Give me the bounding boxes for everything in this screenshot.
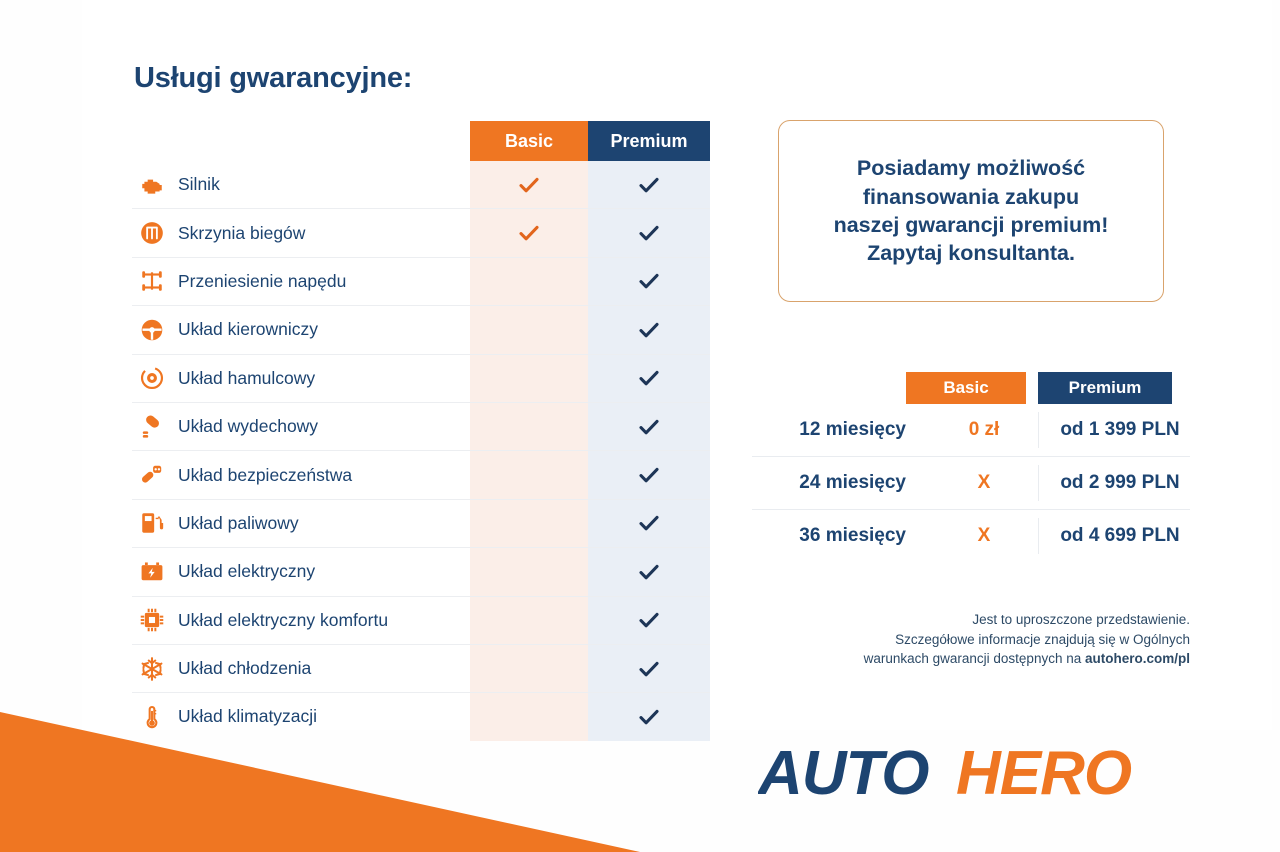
table-row: Skrzynia biegów xyxy=(132,208,710,256)
cell-premium xyxy=(588,511,710,535)
pricing-row-list: 12 miesięcy0 złod 1 399 PLN24 miesięcyXo… xyxy=(752,404,1190,562)
check-icon xyxy=(517,221,541,245)
pricing-term: 24 miesięcy xyxy=(752,472,918,494)
pricing-column-divider xyxy=(1038,518,1039,554)
services-table: Basic Premium SilnikSkrzynia biegówPrzen… xyxy=(132,121,710,741)
check-icon xyxy=(637,415,661,439)
autohero-logo-wordmark: AUTO HERO xyxy=(758,742,1162,804)
pricing-column-headers: Basic Premium xyxy=(752,372,1190,404)
check-icon xyxy=(637,318,661,342)
disclaimer-line-3-prefix: warunkach gwarancji dostępnych na xyxy=(864,651,1085,666)
battery-icon xyxy=(132,559,172,585)
pricing-row: 24 miesięcyXod 2 999 PLN xyxy=(752,456,1190,509)
poster-canvas: Usługi gwarancyjne: Basic Premium Silnik… xyxy=(0,0,1280,852)
check-icon xyxy=(517,173,541,197)
cell-basic xyxy=(470,221,588,245)
cell-premium xyxy=(588,463,710,487)
cell-premium xyxy=(588,705,710,729)
pricing-header-basic[interactable]: Basic xyxy=(906,372,1026,404)
financing-promo-text: Posiadamy możliwość finansowania zakupu … xyxy=(820,154,1123,268)
gearbox-icon xyxy=(132,220,172,246)
cell-premium xyxy=(588,318,710,342)
pricing-basic-value: 0 zł xyxy=(918,419,1050,441)
service-label: Silnik xyxy=(172,174,470,195)
table-row: Układ elektryczny komfortu xyxy=(132,596,710,644)
services-row-list: SilnikSkrzynia biegówPrzeniesienie napęd… xyxy=(132,121,710,741)
services-panel: Usługi gwarancyjne: Basic Premium Silnik… xyxy=(132,62,710,741)
pricing-premium-value: od 1 399 PLN xyxy=(1050,419,1190,441)
table-row: Układ hamulcowy xyxy=(132,354,710,402)
check-icon xyxy=(637,608,661,632)
service-label: Układ bezpieczeństwa xyxy=(172,465,470,486)
logo-text-auto: AUTO xyxy=(758,742,929,804)
cell-basic xyxy=(470,173,588,197)
snowflake-icon xyxy=(132,656,172,682)
table-row: Układ chłodzenia xyxy=(132,644,710,692)
seatbelt-icon xyxy=(132,462,172,488)
service-label: Przeniesienie napędu xyxy=(172,271,470,292)
check-icon xyxy=(637,463,661,487)
cell-premium xyxy=(588,560,710,584)
service-label: Układ paliwowy xyxy=(172,513,470,534)
disclaimer: Jest to uproszczone przedstawienie. Szcz… xyxy=(740,610,1202,669)
exhaust-muffler-icon xyxy=(132,414,172,440)
chip-icon xyxy=(132,607,172,633)
service-label: Układ wydechowy xyxy=(172,416,470,437)
service-label: Układ hamulcowy xyxy=(172,368,470,389)
table-row: Przeniesienie napędu xyxy=(132,257,710,305)
promo-line-1: Posiadamy możliwość xyxy=(834,154,1109,182)
service-label: Układ kierowniczy xyxy=(172,319,470,340)
service-label: Układ elektryczny xyxy=(172,561,470,582)
check-icon xyxy=(637,705,661,729)
pricing-term: 36 miesięcy xyxy=(752,525,918,547)
pricing-premium-value: od 4 699 PLN xyxy=(1050,525,1190,547)
check-icon xyxy=(637,366,661,390)
promo-line-3: naszej gwarancji premium! xyxy=(834,211,1109,239)
disclaimer-line-3: warunkach gwarancji dostępnych na autohe… xyxy=(740,649,1190,669)
financing-promo-box: Posiadamy możliwość finansowania zakupu … xyxy=(778,120,1164,302)
pricing-premium-value: od 2 999 PLN xyxy=(1050,472,1190,494)
steering-wheel-icon xyxy=(132,317,172,343)
check-icon xyxy=(637,221,661,245)
table-row: Układ elektryczny xyxy=(132,547,710,595)
promo-line-2: finansowania zakupu xyxy=(834,183,1109,211)
cell-premium xyxy=(588,608,710,632)
engine-icon xyxy=(132,172,172,198)
disclaimer-line-1: Jest to uproszczone przedstawienie. xyxy=(740,610,1190,630)
cell-premium xyxy=(588,657,710,681)
check-icon xyxy=(637,269,661,293)
cell-premium xyxy=(588,415,710,439)
check-icon xyxy=(637,511,661,535)
promo-line-4: Zapytaj konsultanta. xyxy=(834,239,1109,267)
pricing-basic-value: X xyxy=(918,525,1050,547)
pricing-table: Basic Premium 12 miesięcy0 złod 1 399 PL… xyxy=(752,372,1190,562)
table-row: Układ bezpieczeństwa xyxy=(132,450,710,498)
table-row: Układ kierowniczy xyxy=(132,305,710,353)
cell-premium xyxy=(588,269,710,293)
table-row: Układ klimatyzacji xyxy=(132,692,710,740)
table-row: Silnik xyxy=(132,161,710,208)
check-icon xyxy=(637,173,661,197)
drivetrain-axle-icon xyxy=(132,268,172,294)
pricing-header-premium[interactable]: Premium xyxy=(1038,372,1172,404)
page-title: Usługi gwarancyjne: xyxy=(134,62,710,95)
service-label: Układ klimatyzacji xyxy=(172,706,470,727)
logo-text-hero: HERO xyxy=(956,742,1132,804)
pricing-row: 12 miesięcy0 złod 1 399 PLN xyxy=(752,404,1190,456)
fuel-pump-icon xyxy=(132,510,172,536)
pricing-term: 12 miesięcy xyxy=(752,419,918,441)
service-label: Układ chłodzenia xyxy=(172,658,470,679)
cell-premium xyxy=(588,366,710,390)
autohero-logo[interactable]: AUTO HERO xyxy=(758,742,1162,804)
cell-premium xyxy=(588,173,710,197)
pricing-basic-value: X xyxy=(918,472,1050,494)
pricing-row: 36 miesięcyXod 4 699 PLN xyxy=(752,509,1190,562)
table-row: Układ paliwowy xyxy=(132,499,710,547)
disclaimer-website-link[interactable]: autohero.com/pl xyxy=(1085,651,1190,666)
table-row: Układ wydechowy xyxy=(132,402,710,450)
cell-premium xyxy=(588,221,710,245)
disclaimer-line-2: Szczegółowe informacje znajdują się w Og… xyxy=(740,630,1190,650)
service-label: Skrzynia biegów xyxy=(172,223,470,244)
pricing-column-divider xyxy=(1038,465,1039,501)
check-icon xyxy=(637,560,661,584)
pricing-column-divider xyxy=(1038,412,1039,448)
check-icon xyxy=(637,657,661,681)
service-label: Układ elektryczny komfortu xyxy=(172,610,470,631)
offer-panel: Posiadamy możliwość finansowania zakupu … xyxy=(740,0,1210,730)
thermometer-icon xyxy=(132,704,172,730)
brake-disc-icon xyxy=(132,365,172,391)
